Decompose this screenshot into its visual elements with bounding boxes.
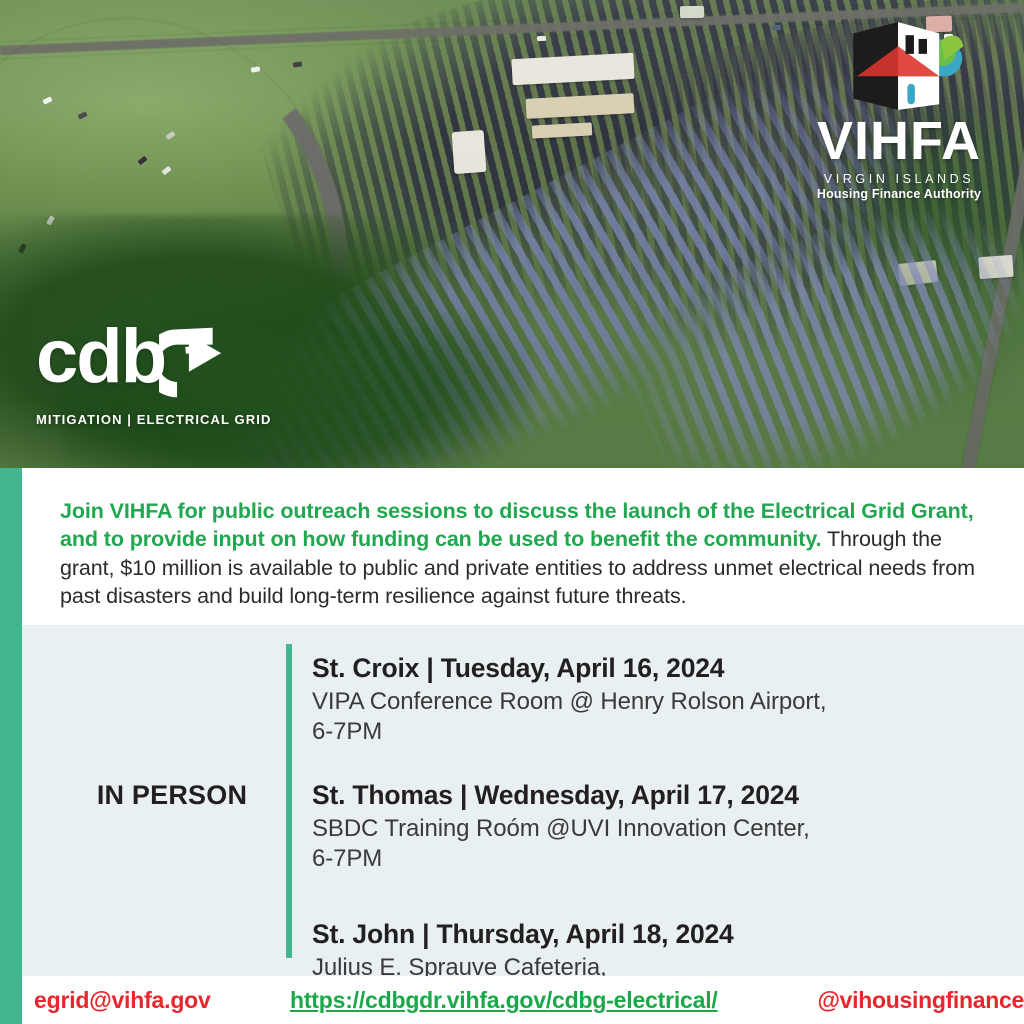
sessions-section: IN PERSON St. Croix | Tuesday, April 16,… xyxy=(22,625,1024,976)
cdbg-wordmark-row: cdb xyxy=(36,326,271,404)
flyer-root: VIHFA VIRGIN ISLANDS Housing Finance Aut… xyxy=(0,0,1024,1024)
cdbg-logo: cdb MITIGATION | ELECTRICAL GRID xyxy=(36,326,271,427)
footer-email-link[interactable]: egrid@vihfa.gov xyxy=(34,987,211,1014)
vihfa-wordmark: VIHFA xyxy=(804,116,994,168)
list-item: St. Croix | Tuesday, April 16, 2024 VIPA… xyxy=(312,637,972,746)
session-title: St. John | Thursday, April 18, 2024 xyxy=(312,917,972,951)
list-item: St. Thomas | Wednesday, April 17, 2024 S… xyxy=(312,764,972,873)
left-green-rail xyxy=(0,468,22,1024)
session-venue: VIPA Conference Room @ Henry Rolson Airp… xyxy=(312,687,972,716)
cdbg-wordmark: cdb xyxy=(36,326,165,388)
session-title: St. Croix | Tuesday, April 16, 2024 xyxy=(312,651,972,685)
session-title: St. Thomas | Wednesday, April 17, 2024 xyxy=(312,778,972,812)
session-time: 6-7PM xyxy=(312,844,972,873)
sessions-accent-bar xyxy=(286,644,292,958)
session-time: 6-7PM xyxy=(312,717,972,746)
vihfa-logo: VIHFA VIRGIN ISLANDS Housing Finance Aut… xyxy=(804,18,994,201)
footer-contact-bar: egrid@vihfa.gov https://cdbgdr.vihfa.gov… xyxy=(22,976,1024,1024)
hero-aerial-solar-farm-photo: VIHFA VIRGIN ISLANDS Housing Finance Aut… xyxy=(0,0,1024,468)
session-list: St. Croix | Tuesday, April 16, 2024 VIPA… xyxy=(312,637,972,1012)
vihfa-tagline-line2: Housing Finance Authority xyxy=(804,187,994,201)
vihfa-house-mark-icon xyxy=(829,18,969,114)
footer-website-link[interactable]: https://cdbgdr.vihfa.gov/cdbg-electrical… xyxy=(290,987,718,1014)
intro-section: Join VIHFA for public outreach sessions … xyxy=(22,468,1024,625)
in-person-label: IN PERSON xyxy=(62,780,282,811)
session-venue: SBDC Training Roóm @UVI Innovation Cente… xyxy=(312,814,972,843)
vihfa-tagline-line1: VIRGIN ISLANDS xyxy=(804,172,994,186)
footer-social-handle[interactable]: @vihousingfinance xyxy=(818,987,1024,1014)
cdbg-arrow-g-icon xyxy=(159,326,229,404)
intro-paragraph: Join VIHFA for public outreach sessions … xyxy=(60,497,992,611)
cdbg-tagline: MITIGATION | ELECTRICAL GRID xyxy=(36,412,271,427)
